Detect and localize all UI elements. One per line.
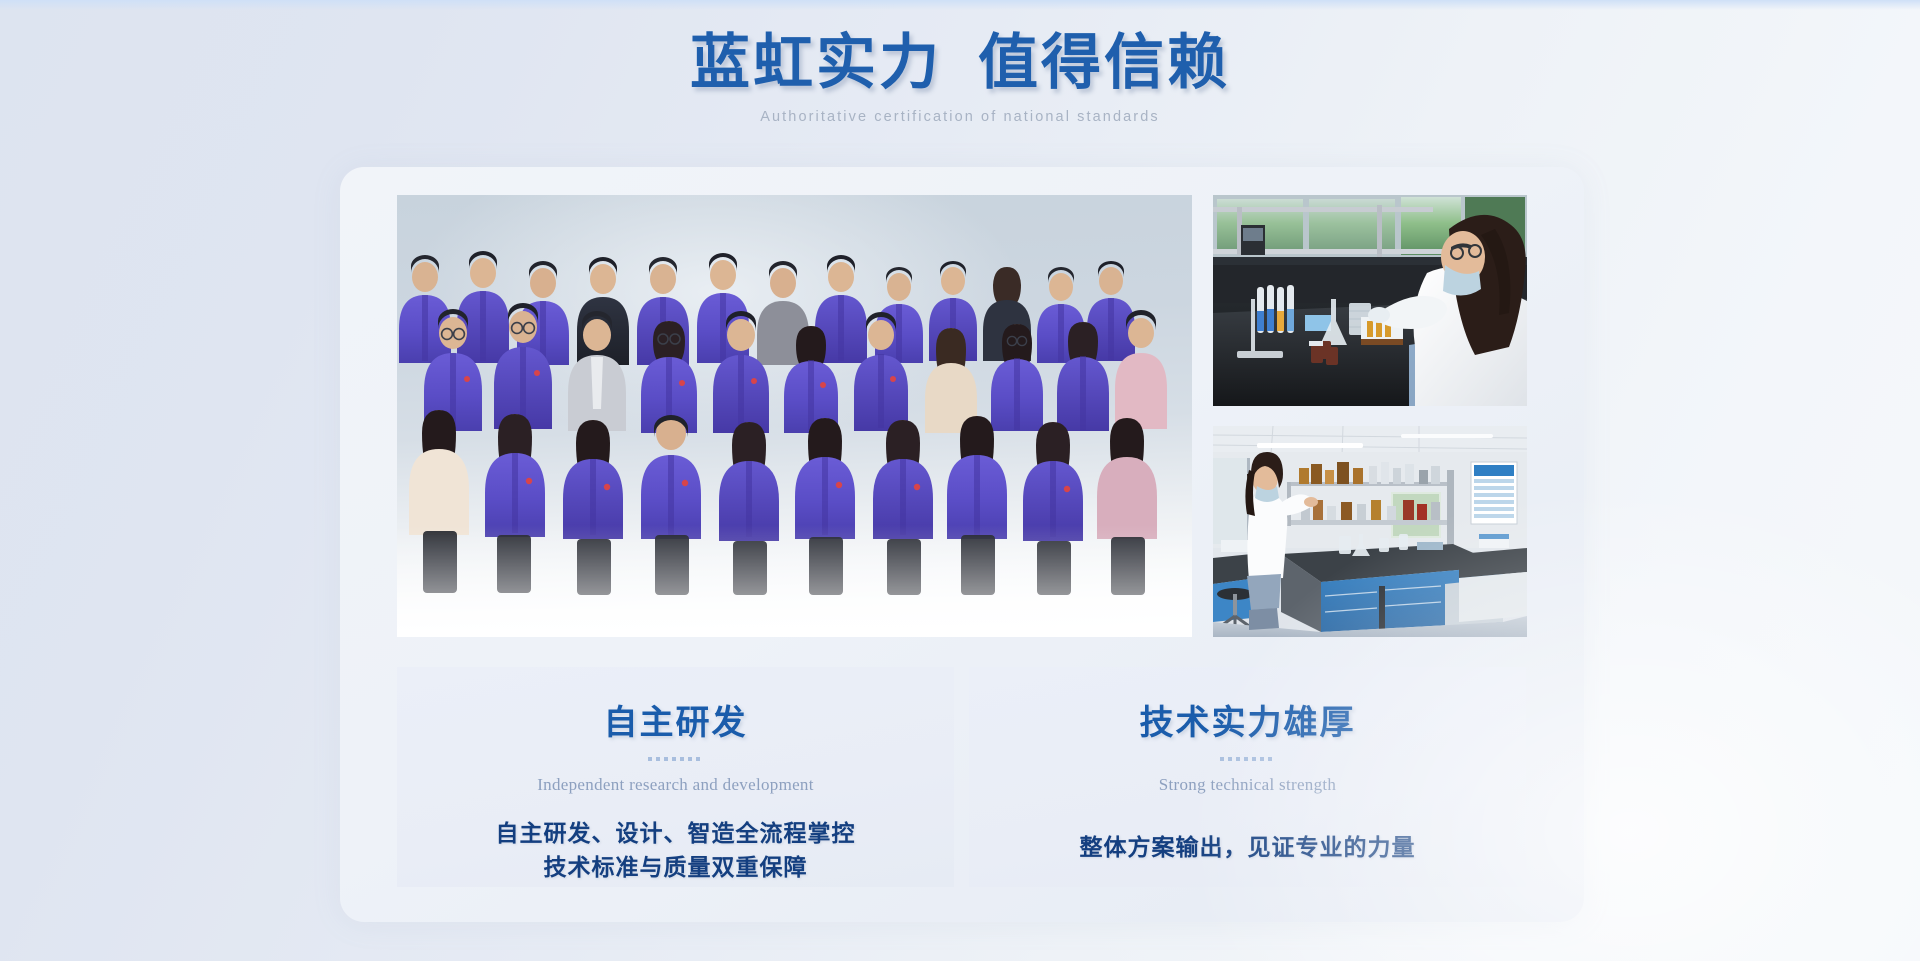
page-subtitle: Authoritative certification of national …: [0, 109, 1920, 125]
lab1-scene: [1213, 195, 1527, 406]
card-body-text: 自主研发、设计、智造全流程掌控 技术标准与质量双重保障: [397, 817, 954, 885]
feature-card-independent-rd: 自主研发 Independent research and developmen…: [397, 667, 954, 887]
content-panel: 自主研发 Independent research and developmen…: [340, 167, 1584, 922]
card-subtitle: Strong technical strength: [969, 775, 1526, 795]
company-group-photo: [397, 195, 1192, 637]
page-title: 蓝虹实力 值得信赖: [0, 30, 1920, 97]
card-body-text: 整体方案输出，见证专业的力量: [969, 831, 1526, 865]
group-photo-people: [397, 195, 1192, 637]
dashed-divider-icon: [1220, 757, 1276, 761]
card-title: 技术实力雄厚: [969, 695, 1526, 744]
laboratory-room-photo: [1213, 426, 1527, 637]
feature-cards: 自主研发 Independent research and developmen…: [397, 667, 1527, 887]
side-photo-column: [1213, 195, 1527, 637]
feature-card-technical-strength: 技术实力雄厚 Strong technical strength 整体方案输出，…: [969, 667, 1526, 887]
card-subtitle: Independent research and development: [397, 775, 954, 795]
dashed-divider-icon: [648, 757, 704, 761]
lab-technician-pipette-photo: [1213, 195, 1527, 406]
card-title: 自主研发: [397, 695, 954, 744]
lab2-scene: [1213, 426, 1527, 637]
page-header: 蓝虹实力 值得信赖 Authoritative certification of…: [0, 30, 1920, 125]
page-root: 蓝虹实力 值得信赖 Authoritative certification of…: [0, 0, 1920, 961]
media-row: [397, 195, 1527, 637]
